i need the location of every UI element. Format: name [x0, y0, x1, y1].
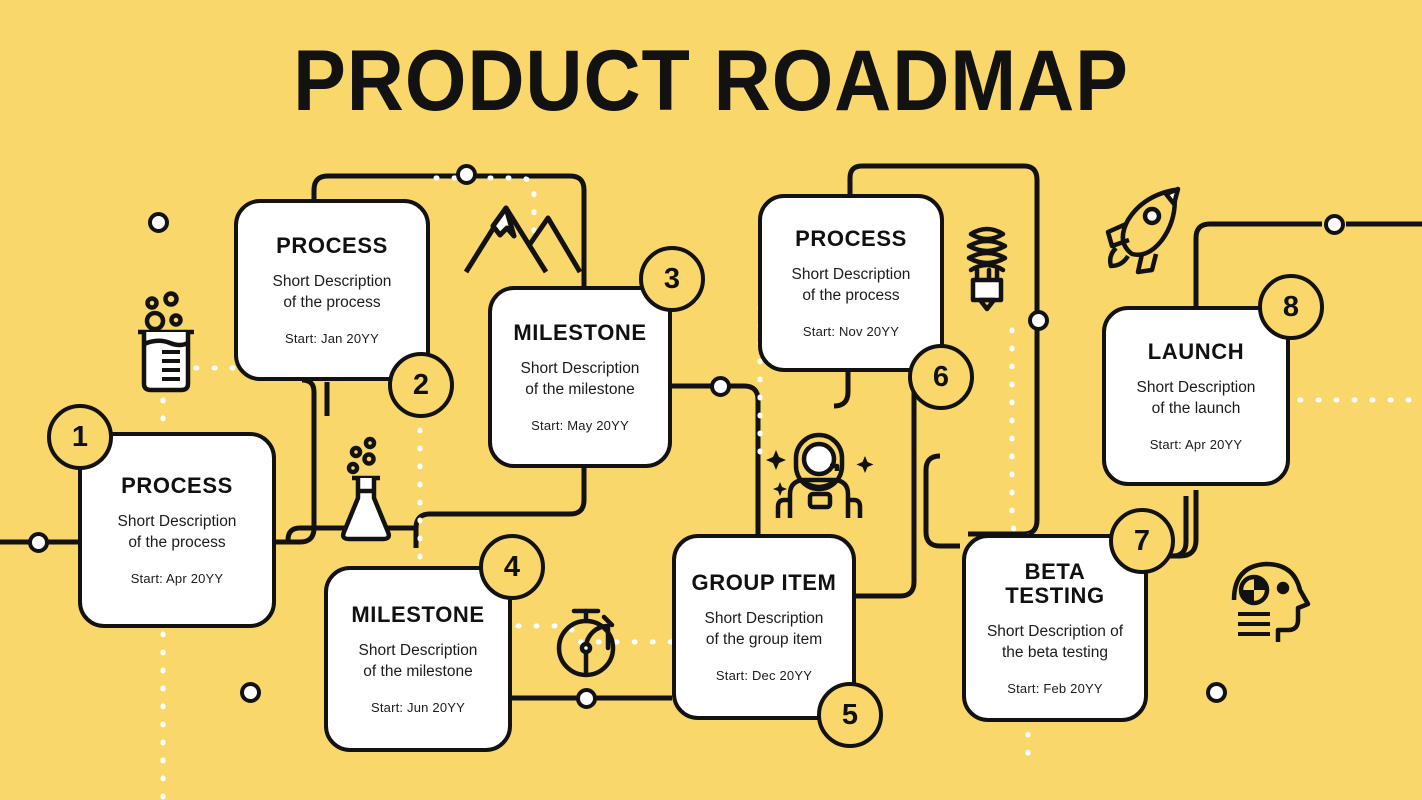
wire-node-top-left	[148, 212, 169, 233]
wire-node-left-entry	[28, 532, 49, 553]
rocket-icon	[1098, 184, 1198, 276]
wire-node-top-right	[1324, 214, 1345, 235]
card-2-start-date: Start: Jan 20YY	[285, 331, 379, 346]
card-7-description-line2: the beta testing	[1002, 643, 1108, 664]
step-badge-6-number: 6	[933, 363, 949, 392]
card-5-description-line1: Short Description	[705, 609, 824, 630]
card-8-description-line2: of the launch	[1152, 399, 1241, 420]
step-badge-8[interactable]: 8	[1258, 274, 1324, 340]
step-badge-2-number: 2	[413, 371, 429, 400]
card-2-description-line2: of the process	[283, 293, 380, 314]
step-badge-1-number: 1	[72, 423, 88, 452]
wire-node-bottom-right	[1206, 682, 1227, 703]
mountain-icon	[462, 196, 584, 278]
step-badge-6[interactable]: 6	[908, 344, 974, 410]
card-2-description-line1: Short Description	[273, 272, 392, 293]
card-8-description-line1: Short Description	[1137, 378, 1256, 399]
wire-node-card3-right	[710, 376, 731, 397]
step-badge-5[interactable]: 5	[817, 682, 883, 748]
card-4-heading: MILESTONE	[351, 603, 484, 627]
roadmap-card-4[interactable]: MILESTONE Short Description of the miles…	[324, 566, 512, 752]
wire-node-bottom-mid	[576, 688, 597, 709]
roadmap-card-8[interactable]: LAUNCH Short Description of the launch S…	[1102, 306, 1290, 486]
wire-node-top-card2	[456, 164, 477, 185]
step-badge-3-number: 3	[664, 265, 680, 294]
card-1-description-line1: Short Description	[118, 512, 237, 533]
card-6-description-line1: Short Description	[792, 265, 911, 286]
step-badge-4[interactable]: 4	[479, 534, 545, 600]
beaker-icon	[124, 286, 208, 396]
lightbulb-icon	[956, 218, 1018, 318]
step-badge-2[interactable]: 2	[388, 352, 454, 418]
card-6-description-line2: of the process	[802, 286, 899, 307]
card-4-description-line2: of the milestone	[363, 662, 472, 683]
roadmap-card-2[interactable]: PROCESS Short Description of the process…	[234, 199, 430, 381]
step-badge-7-number: 7	[1134, 527, 1150, 556]
roadmap-canvas: PRODUCT ROADMAP	[0, 0, 1422, 800]
step-badge-4-number: 4	[504, 553, 520, 582]
card-3-description-line1: Short Description	[521, 359, 640, 380]
card-1-description-line2: of the process	[128, 533, 225, 554]
card-4-start-date: Start: Jun 20YY	[371, 700, 465, 715]
card-1-heading: PROCESS	[121, 474, 233, 498]
step-badge-7[interactable]: 7	[1109, 508, 1175, 574]
wire-node-card6-right	[1028, 310, 1049, 331]
card-6-start-date: Start: Nov 20YY	[803, 324, 899, 339]
card-5-description-line2: of the group item	[706, 630, 822, 651]
roadmap-card-6[interactable]: PROCESS Short Description of the process…	[758, 194, 944, 372]
card-1-start-date: Start: Apr 20YY	[131, 571, 224, 586]
card-3-description-line2: of the milestone	[525, 380, 634, 401]
step-badge-1[interactable]: 1	[47, 404, 113, 470]
card-5-start-date: Start: Dec 20YY	[716, 668, 812, 683]
step-badge-8-number: 8	[1283, 293, 1299, 322]
card-7-start-date: Start: Feb 20YY	[1007, 681, 1103, 696]
card-8-heading: LAUNCH	[1148, 340, 1244, 364]
astronaut-icon	[760, 428, 878, 528]
card-3-heading: MILESTONE	[513, 321, 646, 345]
card-4-description-line1: Short Description	[359, 641, 478, 662]
wire-node-bottom-left	[240, 682, 261, 703]
card-8-start-date: Start: Apr 20YY	[1150, 437, 1243, 452]
card-2-heading: PROCESS	[276, 234, 388, 258]
card-5-heading: GROUP ITEM	[692, 571, 837, 595]
card-7-description-line1: Short Description of	[987, 622, 1123, 643]
step-badge-3[interactable]: 3	[639, 246, 705, 312]
step-badge-5-number: 5	[842, 701, 858, 730]
head-mind-icon	[1226, 556, 1312, 648]
card-7-heading: BETATESTING	[1005, 560, 1105, 608]
card-3-start-date: Start: May 20YY	[531, 418, 629, 433]
roadmap-card-3[interactable]: MILESTONE Short Description of the miles…	[488, 286, 672, 468]
card-6-heading: PROCESS	[795, 227, 907, 251]
stopwatch-icon	[552, 600, 626, 680]
flask-icon	[336, 434, 404, 546]
roadmap-card-1[interactable]: PROCESS Short Description of the process…	[78, 432, 276, 628]
